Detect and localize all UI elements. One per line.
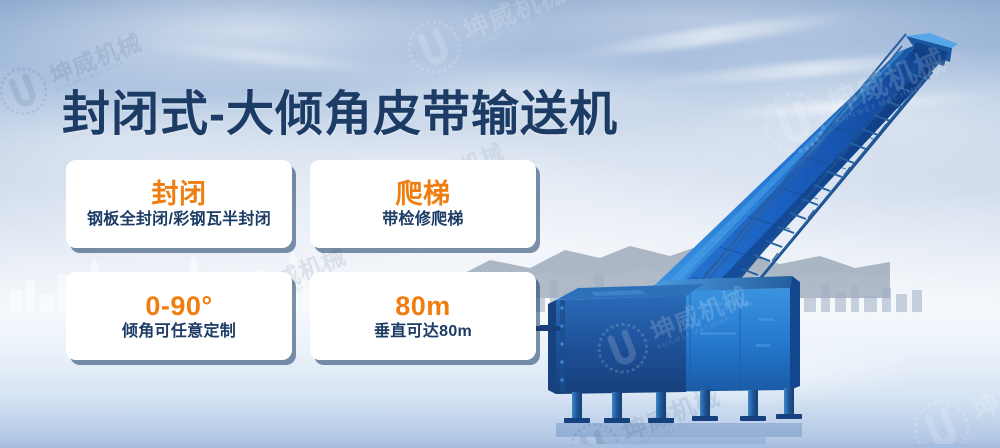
drive-housing: [640, 276, 800, 392]
gear-logo-icon: [398, 11, 471, 84]
feature-card-title: 爬梯: [396, 180, 451, 208]
gear-logo-icon: [588, 314, 657, 383]
watermark-brand-en: KUNWEI MACHINE: [469, 3, 572, 50]
watermark-brand-cn: 坤威机械: [647, 283, 751, 344]
machine-body: [520, 284, 704, 394]
cloud-streak-1: [560, 7, 859, 65]
watermark-logo-machine: 坤威机械 KUNWEI MACHINE: [588, 273, 758, 383]
feature-card-angle[interactable]: 0-90° 倾角可任意定制: [66, 272, 292, 360]
feature-card-enclosure[interactable]: 封闭 钢板全封闭/彩钢瓦半封闭: [66, 160, 292, 248]
watermark-brand-cn: 坤威机械: [459, 0, 569, 43]
drive-shaft-assembly: [540, 311, 681, 345]
product-banner: 坤威机械 KUNWEI MACHINE 坤威机械 KUNWEI MACHINE …: [0, 0, 1000, 448]
watermark-brand-en: KUNWEI MACHINE: [835, 72, 953, 126]
feature-card-subtitle: 钢板全封闭/彩钢瓦半封闭: [87, 211, 271, 229]
feature-card-ladder[interactable]: 爬梯 带检修爬梯: [310, 160, 536, 248]
feature-card-title: 封闭: [152, 180, 207, 208]
gear-logo-icon: [752, 81, 836, 165]
gear-logo-icon: [903, 390, 980, 448]
conveyor-incline: [608, 33, 958, 330]
feature-card-title: 0-90°: [145, 292, 212, 320]
watermark-brand-cn: 坤威机械: [968, 356, 1000, 424]
support-legs: [564, 388, 802, 423]
watermark-logo-top-center: 坤威机械 KUNWEI MACHINE: [398, 0, 577, 84]
maintenance-ladder: [668, 34, 938, 344]
watermark-brand-cn: 坤威机械: [823, 44, 949, 118]
machine-reflection: [556, 423, 802, 444]
conveyor-tail-section: [600, 318, 700, 366]
feature-card-row-1: 封闭 钢板全封闭/彩钢瓦半封闭 爬梯 带检修爬梯: [66, 160, 536, 248]
feature-card-subtitle: 垂直可达80m: [374, 323, 472, 341]
cloud-streak-2: [640, 47, 980, 91]
page-title: 封闭式-大倾角皮带输送机: [62, 74, 618, 144]
feature-card-height[interactable]: 80m 垂直可达80m: [310, 272, 536, 360]
bottom-edge-bar: [0, 444, 1000, 448]
feature-card-grid: 封闭 钢板全封闭/彩钢瓦半封闭 爬梯 带检修爬梯 0-90° 倾角可任意定制 8…: [66, 160, 536, 384]
ground-reflection: [480, 330, 1000, 430]
gear-logo-icon: [0, 58, 56, 124]
watermark-brand-cn: 坤威机械: [619, 383, 723, 444]
feature-card-subtitle: 倾角可任意定制: [122, 323, 236, 341]
cloud-streak-4: [140, 38, 400, 77]
watermark-logo-bottom-center: 坤威机械 KUNWEI MACHINE: [560, 373, 730, 448]
watermark-logo-bottom-right: 坤威机械 KUNWEI MACHINE: [903, 345, 1000, 448]
feature-card-title: 80m: [395, 292, 451, 320]
gear-logo-icon: [560, 414, 629, 448]
feature-card-row-2: 0-90° 倾角可任意定制 80m 垂直可达80m: [66, 272, 536, 360]
watermark-brand-en: KUNWEI MACHINE: [628, 406, 726, 448]
watermark-brand-en: KUNWEI MACHINE: [656, 306, 754, 351]
cloud-streak-3: [700, 90, 1000, 123]
watermark-logo-conveyor: 坤威机械 KUNWEI MACHINE: [752, 32, 957, 165]
feature-card-subtitle: 带检修爬梯: [382, 211, 464, 229]
watermark-brand-en: KUNWEI MACHINE: [978, 382, 1000, 431]
